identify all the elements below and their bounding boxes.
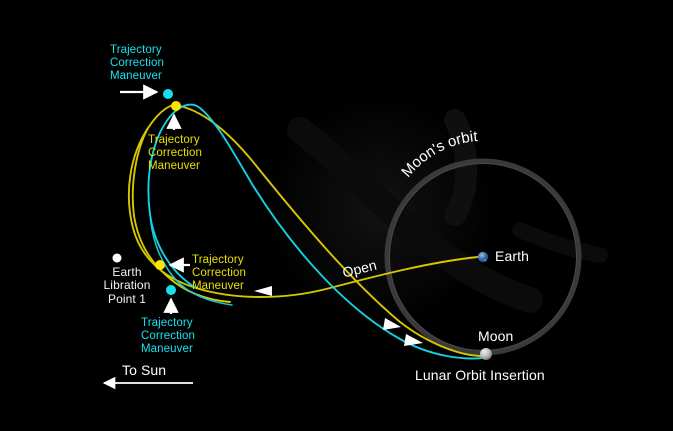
maneuver-dot-tcm-3 bbox=[155, 260, 165, 270]
trajectory-diagram: Trajectory Correction Maneuver Trajector… bbox=[0, 0, 673, 431]
earth-globe-icon bbox=[478, 252, 488, 262]
background-nebula bbox=[260, 90, 600, 330]
maneuver-dot-tcm-4 bbox=[166, 285, 176, 295]
diagram-canvas bbox=[0, 0, 673, 431]
trajectory-cyan-tail bbox=[150, 214, 232, 305]
moon-sphere-icon bbox=[480, 348, 492, 360]
maneuver-dot-tcm-1 bbox=[163, 89, 173, 99]
libration-point-dot-icon bbox=[113, 254, 122, 263]
direction-arrow-yellow-outbound bbox=[254, 286, 272, 296]
maneuver-dot-tcm-2 bbox=[171, 101, 181, 111]
maneuver-pointer-arrows bbox=[104, 92, 193, 383]
